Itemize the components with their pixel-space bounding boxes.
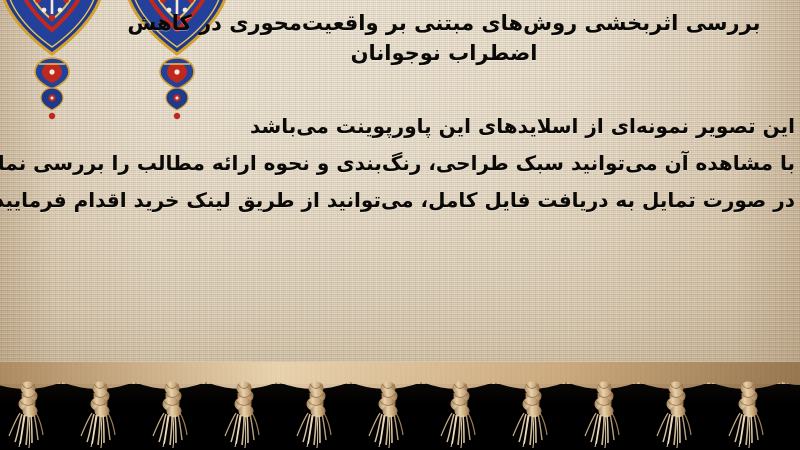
slide-canvas: بررسی اثربخشی روش‌های مبتنی بر واقعیت‌مح… xyxy=(0,0,800,450)
title-line-2: اضطراب نوجوانان xyxy=(94,38,794,68)
carpet-fringe xyxy=(0,362,800,450)
fringe-tassels xyxy=(0,362,800,450)
body-line-1: این تصویر نمونه‌ای از اسلایدهای این پاور… xyxy=(3,108,795,145)
body-line-2: با مشاهده آن می‌توانید سبک طراحی، رنگ‌بن… xyxy=(3,145,795,182)
slide-body: این تصویر نمونه‌ای از اسلایدهای این پاور… xyxy=(3,108,795,219)
text-layer: بررسی اثربخشی روش‌های مبتنی بر واقعیت‌مح… xyxy=(0,0,800,378)
body-line-3: در صورت تمایل به دریافت فایل کامل، می‌تو… xyxy=(3,182,795,219)
slide-title: بررسی اثربخشی روش‌های مبتنی بر واقعیت‌مح… xyxy=(94,8,794,68)
title-line-1: بررسی اثربخشی روش‌های مبتنی بر واقعیت‌مح… xyxy=(94,8,794,38)
